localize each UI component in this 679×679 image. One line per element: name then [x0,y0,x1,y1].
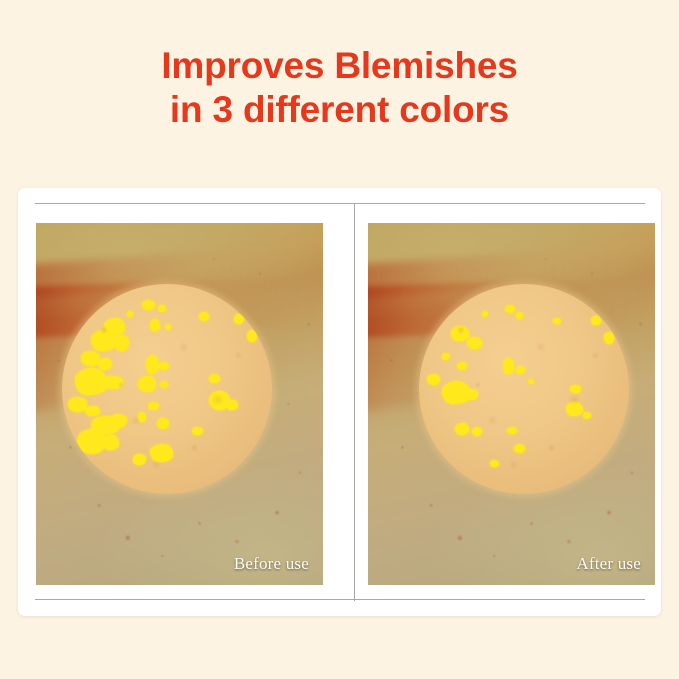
blemish-spot [165,324,171,330]
blemish-spot [503,358,514,375]
blemish-spot [247,330,258,342]
blemish-spot [192,427,203,435]
blemish-spot [127,311,133,316]
blemish-spot [505,305,514,313]
blemish-spot [142,300,156,311]
blemish-spot [138,376,157,392]
blemish-spot [442,381,471,404]
blemish-spot [81,351,100,366]
blemish-spot [102,435,119,450]
blemish-spot [451,326,470,341]
page-title-line-1: Improves Blemishes [0,44,679,88]
blemish-spot [457,362,468,370]
blemish-spot [85,406,100,417]
blemish-spot [591,316,600,325]
blemish-spot [516,312,523,318]
before-image-panel: Before use [36,223,323,585]
blemish-spot [507,427,516,435]
blemish-spot [98,358,113,371]
blemish-spot [209,391,230,410]
blemish-spot [467,337,482,350]
blemish-spot [442,353,450,360]
blemish-spot [570,385,581,393]
blemish-spot [566,402,583,417]
blemish-spot [583,412,591,419]
blemish-spot [234,314,243,323]
comparison-card: Before use After use [18,188,661,616]
blemish-spot [77,429,106,454]
blemish-spot [209,374,220,382]
blemish-spot [553,318,561,324]
blemish-spot [138,412,146,421]
page-title: Improves Blemishes in 3 different colors [0,44,679,132]
blemish-spot [148,402,159,410]
before-use-caption: Before use [234,554,309,574]
blemish-spot [482,311,488,316]
page-title-line-2: in 3 different colors [0,88,679,132]
blemish-spot [115,335,130,351]
blemish-spot [104,376,123,389]
blemish-spot [226,400,239,411]
blemish-spot [427,374,440,385]
blemish-spot [104,318,125,337]
blemish-spot [455,423,470,436]
blemish-spot [472,427,483,436]
after-image-panel: After use [368,223,655,585]
panel-divider [354,204,355,601]
comparison-frame: Before use After use [35,203,645,600]
analysis-circle-after [419,284,629,494]
blemish-spot [516,366,525,374]
blemish-spot [199,312,210,320]
blemish-spot [158,305,166,312]
blemish-spot [75,368,109,395]
blemish-spot [150,444,173,463]
blemish-spot [146,355,159,374]
blemish-spot [150,319,159,332]
blemish-spot [157,418,170,429]
blemish-spot [133,454,146,465]
blemish-spot [160,381,168,388]
blemish-spot [465,389,478,400]
blemish-spot [514,444,526,453]
blemish-spot [604,332,615,344]
blemish-spot [159,362,170,370]
blemish-spot [528,379,534,385]
blemish-spot [91,330,116,351]
blemish-spot [490,460,498,467]
blemish-spot [91,416,118,435]
after-use-caption: After use [576,554,641,574]
analysis-circle-before [62,284,272,494]
blemish-spot [68,397,87,412]
blemish-spot [110,414,127,428]
